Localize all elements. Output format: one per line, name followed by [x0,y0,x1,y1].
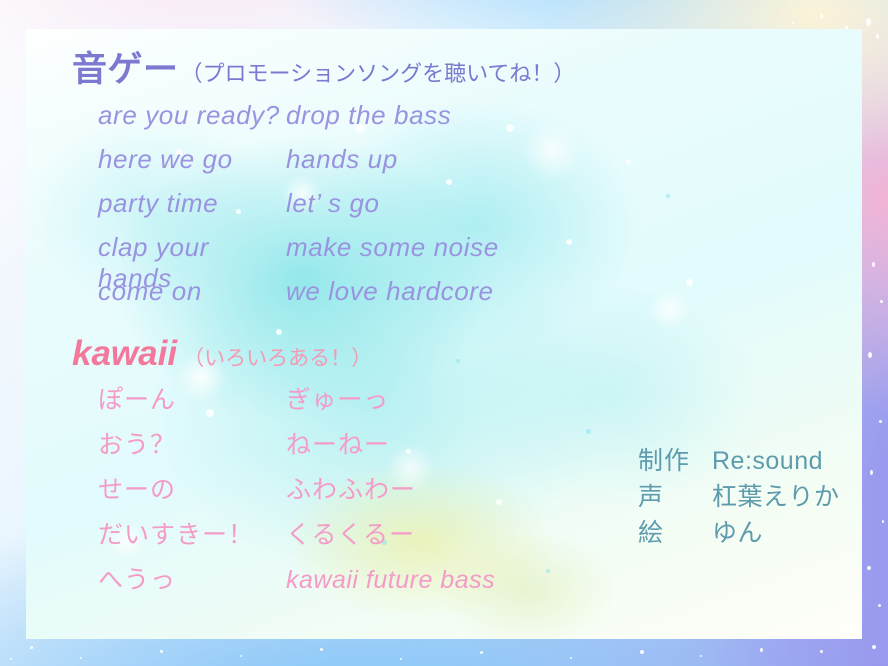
credit-label: 絵 [638,513,712,549]
phrase-left: come on [98,276,286,307]
credit-row: 絵 ゆん [638,513,840,549]
phrase-list-ongame: are you ready? drop the bass here we go … [26,100,862,320]
list-item: party time let’ s go [98,188,862,232]
phrase-right: we love hardcore [286,276,586,307]
phrase-right: hands up [286,144,586,175]
credits-block: 制作 Re:sound 声 杠葉えりか 絵 ゆん [638,441,840,549]
credit-row: 制作 Re:sound [638,441,840,477]
list-item: here we go hands up [98,144,862,188]
section-title-ongame: 音ゲー [72,41,179,92]
list-item: へうっ kawaii future bass [98,560,862,605]
phrase-left: せーの [98,470,286,506]
list-item: come on we love hardcore [98,276,862,320]
phrase-right: ふわふわー [286,470,586,506]
list-item: ぽーん ぎゅーっ [98,380,862,425]
credit-value: ゆん [712,513,763,549]
credit-value: Re:sound [712,447,823,476]
phrase-right: ぎゅーっ [286,380,586,416]
phrase-right: make some noise [286,232,586,263]
phrase-left: are you ready? [98,100,286,131]
slide-canvas: 音ゲー （プロモーションソングを聴いてね！） are you ready? dr… [0,0,888,666]
phrase-right: drop the bass [286,100,586,131]
credit-row: 声 杠葉えりか [638,477,840,513]
phrase-right: くるくるー [286,515,586,551]
list-item: are you ready? drop the bass [98,100,862,144]
section-heading-ongame: 音ゲー （プロモーションソングを聴いてね！） [26,41,862,92]
section-title-kawaii: kawaii [72,334,177,374]
phrase-left: へうっ [98,560,286,596]
section-heading-kawaii: kawaii （いろいろある！） [26,334,862,374]
credit-label: 制作 [638,441,712,477]
credit-value: 杠葉えりか [712,477,840,513]
phrase-left: おう？ [98,425,286,461]
phrase-right: kawaii future bass [286,566,586,595]
phrase-left: ぽーん [98,380,286,416]
phrase-right: ねーねー [286,425,586,461]
phrase-left: だいすきー！ [98,515,286,551]
section-subtitle-kawaii: （いろいろある！） [183,342,372,372]
phrase-right: let’ s go [286,188,586,219]
list-item: clap your hands make some noise [98,232,862,276]
credit-label: 声 [638,477,712,513]
phrase-left: here we go [98,144,286,175]
content-card: 音ゲー （プロモーションソングを聴いてね！） are you ready? dr… [26,29,862,639]
section-subtitle-ongame: （プロモーションソングを聴いてね！） [181,56,576,88]
phrase-left: party time [98,188,286,219]
